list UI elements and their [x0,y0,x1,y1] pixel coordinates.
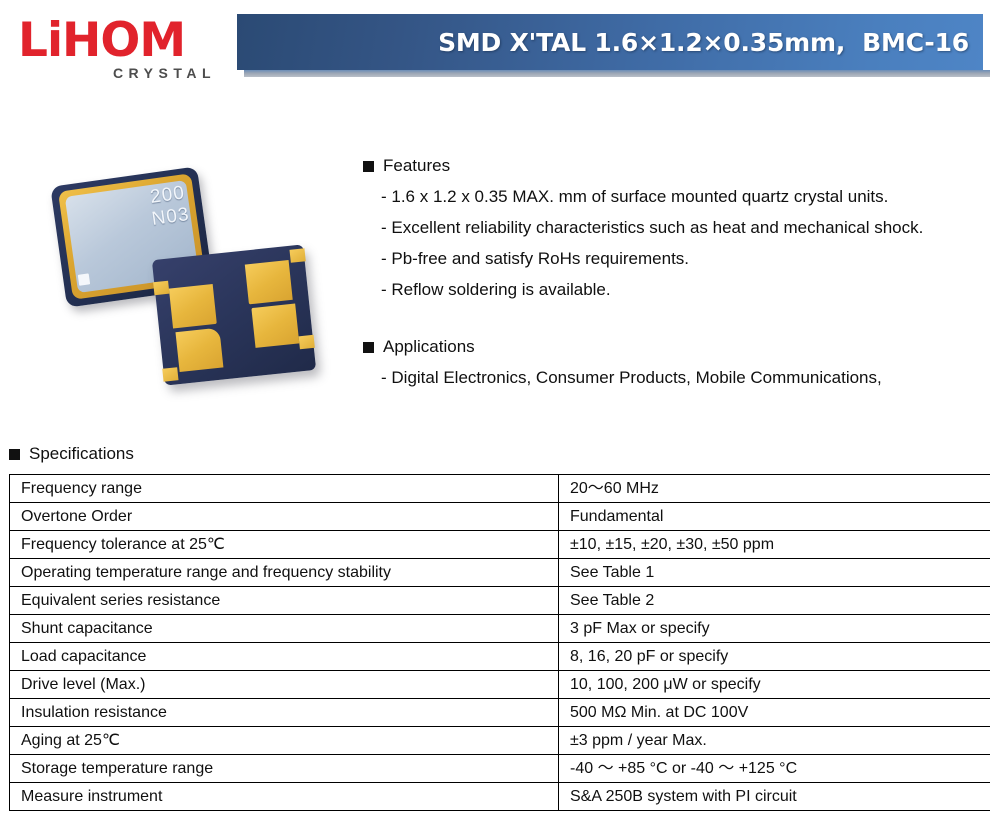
table-row: Shunt capacitance 3 pF Max or specify [10,615,990,643]
table-row: Load capacitance 8, 16, 20 pF or specify [10,643,990,671]
spec-value: 10, 100, 200 μW or specify [559,671,990,699]
table-row: Aging at 25℃ ±3 ppm / year Max. [10,727,990,755]
spec-parameter: Shunt capacitance [10,615,559,643]
spec-parameter: Drive level (Max.) [10,671,559,699]
square-bullet-icon [363,161,374,172]
features-section: Features - 1.6 x 1.2 x 0.35 MAX. mm of s… [363,156,923,300]
specifications-table: Frequency range 20～60 MHz Overtone Order… [9,474,990,811]
spec-parameter: Measure instrument [10,783,559,811]
company-logo: LiHOM CRYSTAL [18,18,218,80]
pin-one-marker [78,273,90,285]
feature-item: - Reflow soldering is available. [363,280,923,300]
product-photo: 200 N03 [42,172,342,402]
solder-pad-bottom-right [251,304,299,348]
applications-section: Applications - Digital Electronics, Cons… [363,337,882,388]
table-row: Equivalent series resistance See Table 2 [10,587,990,615]
square-bullet-icon [363,342,374,353]
application-item: - Digital Electronics, Consumer Products… [363,368,882,388]
logo-wordmark: LiHOM [18,18,218,64]
feature-item: - Pb-free and satisfy RoHs requirements. [363,249,923,269]
page-header: LiHOM CRYSTAL SMD X'TAL 1.6×1.2×0.35mm, … [0,0,990,100]
castellation-corner-4 [299,335,315,349]
title-banner: SMD X'TAL 1.6×1.2×0.35mm, BMC-16 [237,14,990,78]
spec-value: See Table 2 [559,587,990,615]
banner-shadow [244,70,990,77]
spec-value: 500 MΩ Min. at DC 100V [559,699,990,727]
applications-heading: Applications [363,337,882,357]
spec-value: See Table 1 [559,559,990,587]
table-row: Insulation resistance 500 MΩ Min. at DC … [10,699,990,727]
table-row: Frequency range 20～60 MHz [10,475,990,503]
table-row: Storage temperature range -40 ～ +85 °C o… [10,755,990,783]
solder-pad-top-left [169,284,217,328]
spec-parameter: Aging at 25℃ [10,727,559,755]
spec-parameter: Frequency range [10,475,559,503]
square-bullet-icon [9,449,20,460]
crystal-package-bottom [152,244,316,385]
spec-value: ±3 ppm / year Max. [559,727,990,755]
spec-value: Fundamental [559,503,990,531]
table-row: Frequency tolerance at 25℃ ±10, ±15, ±20… [10,531,990,559]
banner-title: SMD X'TAL 1.6×1.2×0.35mm, BMC-16 [438,28,969,57]
spec-parameter: Operating temperature range and frequenc… [10,559,559,587]
spec-parameter: Overtone Order [10,503,559,531]
table-row: Operating temperature range and frequenc… [10,559,990,587]
banner-bar: SMD X'TAL 1.6×1.2×0.35mm, BMC-16 [237,14,983,70]
specifications-table-body: Frequency range 20～60 MHz Overtone Order… [10,475,990,811]
spec-value: ±10, ±15, ±20, ±30, ±50 ppm [559,531,990,559]
table-row: Measure instrument S&A 250B system with … [10,783,990,811]
castellation-corner-2 [289,248,305,262]
package-marking: 200 N03 [147,182,191,231]
spec-parameter: Equivalent series resistance [10,587,559,615]
castellation-corner-1 [153,281,169,295]
solder-pad-top-right [245,260,293,304]
features-heading-label: Features [383,156,450,176]
spec-value: S&A 250B system with PI circuit [559,783,990,811]
spec-value: 8, 16, 20 pF or specify [559,643,990,671]
spec-parameter: Frequency tolerance at 25℃ [10,531,559,559]
spec-parameter: Storage temperature range [10,755,559,783]
table-row: Overtone Order Fundamental [10,503,990,531]
specifications-heading-label: Specifications [29,444,134,464]
spec-parameter: Load capacitance [10,643,559,671]
spec-value: -40 ～ +85 °C or -40 ～ +125 °C [559,755,990,783]
castellation-corner-3 [162,367,178,381]
spec-value: 3 pF Max or specify [559,615,990,643]
table-row: Drive level (Max.) 10, 100, 200 μW or sp… [10,671,990,699]
specifications-section: Specifications [9,444,134,464]
features-heading: Features [363,156,923,176]
applications-heading-label: Applications [383,337,475,357]
feature-item: - Excellent reliability characteristics … [363,218,923,238]
feature-item: - 1.6 x 1.2 x 0.35 MAX. mm of surface mo… [363,187,923,207]
spec-parameter: Insulation resistance [10,699,559,727]
spec-value: 20～60 MHz [559,475,990,503]
solder-pad-bottom-left [175,328,223,372]
specifications-heading: Specifications [9,444,134,464]
